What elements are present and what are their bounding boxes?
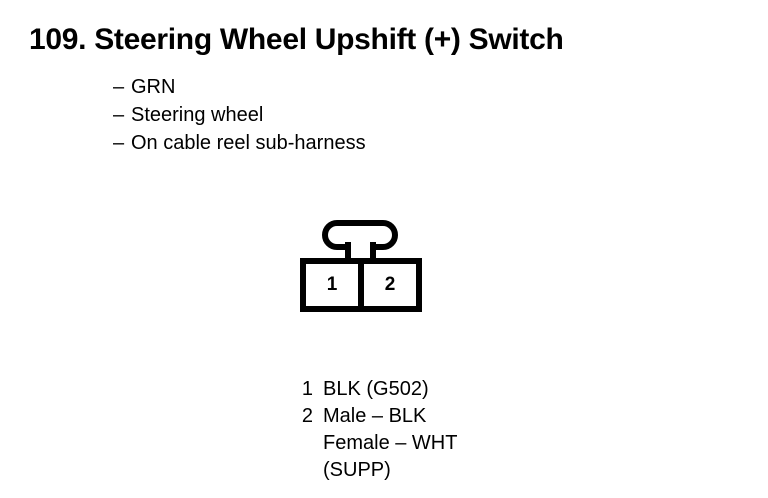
pin-legend-row: (SUPP) — [287, 457, 457, 484]
pin-description: BLK (G502) — [313, 376, 429, 403]
pin-number: 2 — [287, 403, 313, 430]
pin-number: 1 — [287, 376, 313, 403]
connector-cavity-label: 1 — [327, 274, 338, 296]
attribute-label: GRN — [131, 76, 175, 98]
pin-number — [287, 457, 313, 484]
attribute-item: –GRN — [113, 73, 366, 101]
attribute-label: Steering wheel — [131, 104, 263, 126]
pin-number — [287, 430, 313, 457]
pin-legend-row: 2 Male – BLK — [287, 403, 457, 430]
pin-description: Male – BLK — [313, 403, 426, 430]
connector-cavity-2: 2 — [358, 264, 416, 306]
connector-diagram: 1 2 — [300, 218, 422, 312]
pin-legend-row: Female – WHT — [287, 430, 457, 457]
attribute-label: On cable reel sub-harness — [131, 132, 366, 154]
dash-marker: – — [113, 73, 131, 101]
diagram-page: 109. Steering Wheel Upshift (+) Switch –… — [0, 0, 768, 498]
attribute-item: –On cable reel sub-harness — [113, 129, 366, 157]
attribute-list: –GRN –Steering wheel –On cable reel sub-… — [113, 73, 366, 157]
dash-marker: – — [113, 129, 131, 157]
dash-marker: – — [113, 101, 131, 129]
pin-description: Female – WHT — [313, 430, 457, 457]
connector-cavity-label: 2 — [385, 274, 396, 296]
attribute-item: –Steering wheel — [113, 101, 366, 129]
pin-legend: 1 BLK (G502) 2 Male – BLK Female – WHT (… — [287, 376, 457, 484]
pin-description: (SUPP) — [313, 457, 391, 484]
connector-cavity-1: 1 — [306, 264, 358, 306]
pin-legend-row: 1 BLK (G502) — [287, 376, 457, 403]
page-title: 109. Steering Wheel Upshift (+) Switch — [29, 22, 564, 58]
connector-body: 1 2 — [300, 258, 422, 312]
